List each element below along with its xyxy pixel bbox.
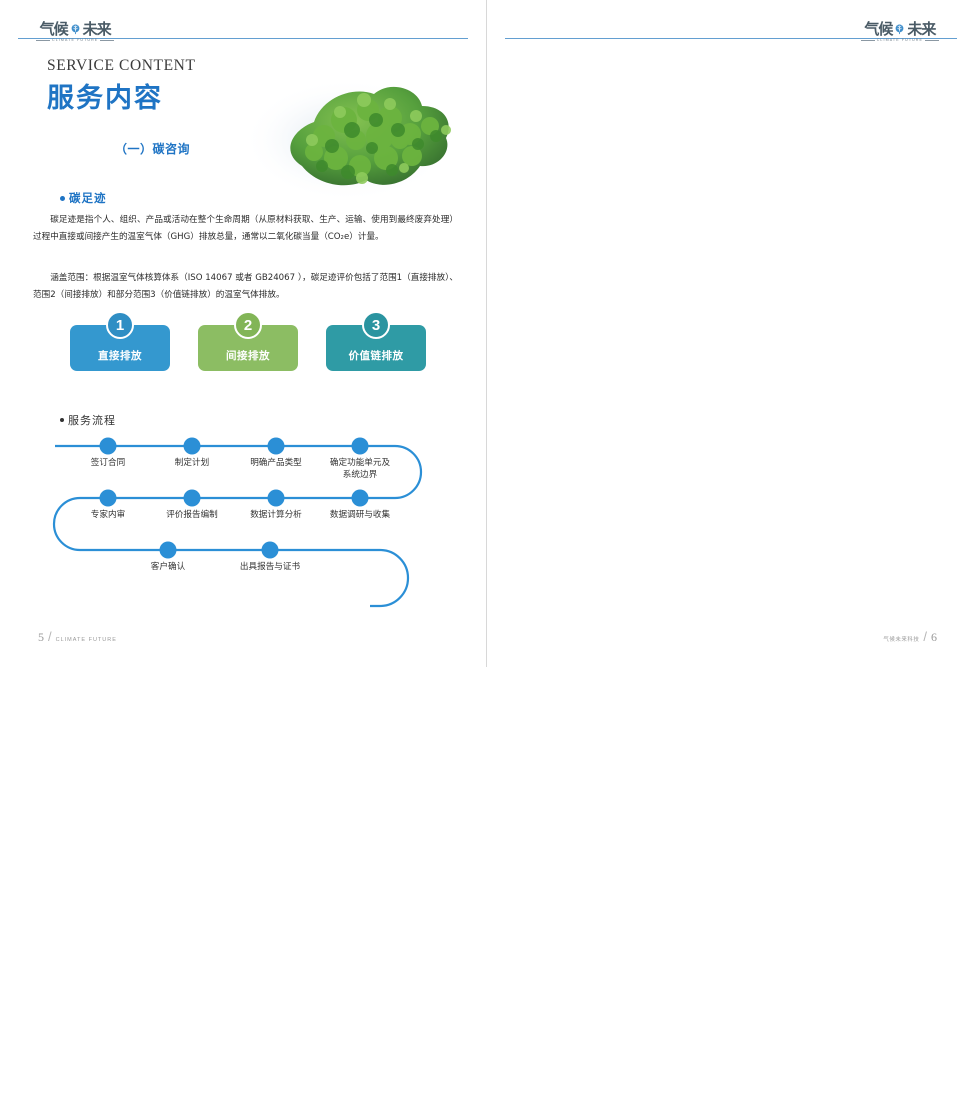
page-left: 气候 未来 CLIMATE FUTURE SERVICE CONTENT 服务内… — [0, 0, 487, 667]
footer-left: 5 / CLIMATE FUTURE — [38, 629, 117, 645]
flow-step-label: 确定功能单元及 系统边界 — [315, 458, 405, 481]
scope-card[interactable]: 2 间接排放 — [198, 325, 298, 371]
logo-text-part2: 未来 — [83, 22, 111, 37]
paragraph-carbon-footprint-2: 涵盖范围：根据温室气体核算体系（ISO 14067 或者 GB24067 ），碳… — [33, 270, 458, 304]
document-spread: 气候 未来 CLIMATE FUTURE SERVICE CONTENT 服务内… — [0, 0, 975, 667]
paragraph-carbon-footprint-1: 碳足迹是指个人、组织、产品或活动在整个生命周期（从原材料获取、生产、运输、使用到… — [33, 212, 458, 246]
scope-card-label: 价值链排放 — [349, 348, 404, 363]
footer-right: 气候未来科技 / 6 — [883, 629, 937, 645]
scope-card-number: 1 — [106, 311, 134, 339]
scope-card[interactable]: 1 直接排放 — [70, 325, 170, 371]
logo-tagline: CLIMATE FUTURE — [861, 39, 939, 43]
scope-card-label: 间接排放 — [226, 348, 270, 363]
flow-step-label: 数据计算分析 — [231, 510, 321, 522]
heading-carbon-footprint: 碳足迹 — [60, 190, 107, 206]
brand-logo-left: 气候 未来 CLIMATE FUTURE — [36, 22, 114, 42]
page-title-cn: 服务内容 — [47, 76, 163, 115]
footer-text-right: 气候未来科技 — [883, 635, 919, 643]
flow-step-label: 明确产品类型 — [231, 458, 321, 470]
flow-step-label: 制定计划 — [152, 458, 232, 470]
scope-card-number: 2 — [234, 311, 262, 339]
scope-card[interactable]: 3 价值链排放 — [326, 325, 426, 371]
page-right: 气候 未来 CLIMATE FUTURE 双碳规划 双碳规划是指企业、园区、城市… — [487, 0, 975, 667]
forest-aerial-image — [240, 48, 470, 213]
heading-service-flow-left: 服务流程 — [60, 412, 116, 428]
logo-tagline: CLIMATE FUTURE — [36, 39, 114, 43]
flow-step-label: 签订合同 — [68, 458, 148, 470]
service-flow-diagram-left: 签订合同 制定计划 明确产品类型 确定功能单元及 系统边界 专家内审 评价报告编… — [50, 428, 450, 628]
scope-card-number: 3 — [362, 311, 390, 339]
flow-step-label: 数据调研与收集 — [313, 510, 408, 522]
page-subtitle: （一）碳咨询 — [115, 140, 190, 157]
footer-text-left: CLIMATE FUTURE — [56, 637, 117, 643]
globe-tree-icon — [893, 23, 906, 36]
logo-text-part1: 气候 — [40, 22, 68, 37]
flow-step-label: 客户确认 — [128, 562, 208, 574]
flow-step-label: 评价报告编制 — [147, 510, 237, 522]
flow-step-label: 专家内审 — [68, 510, 148, 522]
page-number-left: 5 — [38, 630, 44, 645]
footer-slash-right: / — [923, 629, 927, 644]
page-title-en: SERVICE CONTENT — [47, 57, 196, 75]
footer-slash-left: / — [48, 629, 52, 644]
logo-text-part2: 未来 — [907, 22, 935, 37]
page-number-right: 6 — [931, 630, 937, 645]
logo-text-part1: 气候 — [864, 22, 892, 37]
globe-tree-icon — [69, 23, 82, 36]
brand-logo-right: 气候 未来 CLIMATE FUTURE — [861, 22, 939, 42]
flow-step-label: 出具报告与证书 — [223, 562, 318, 574]
scope-card-label: 直接排放 — [98, 348, 142, 363]
scope-card-group: 1 直接排放 2 间接排放 3 价值链排放 — [70, 325, 426, 371]
